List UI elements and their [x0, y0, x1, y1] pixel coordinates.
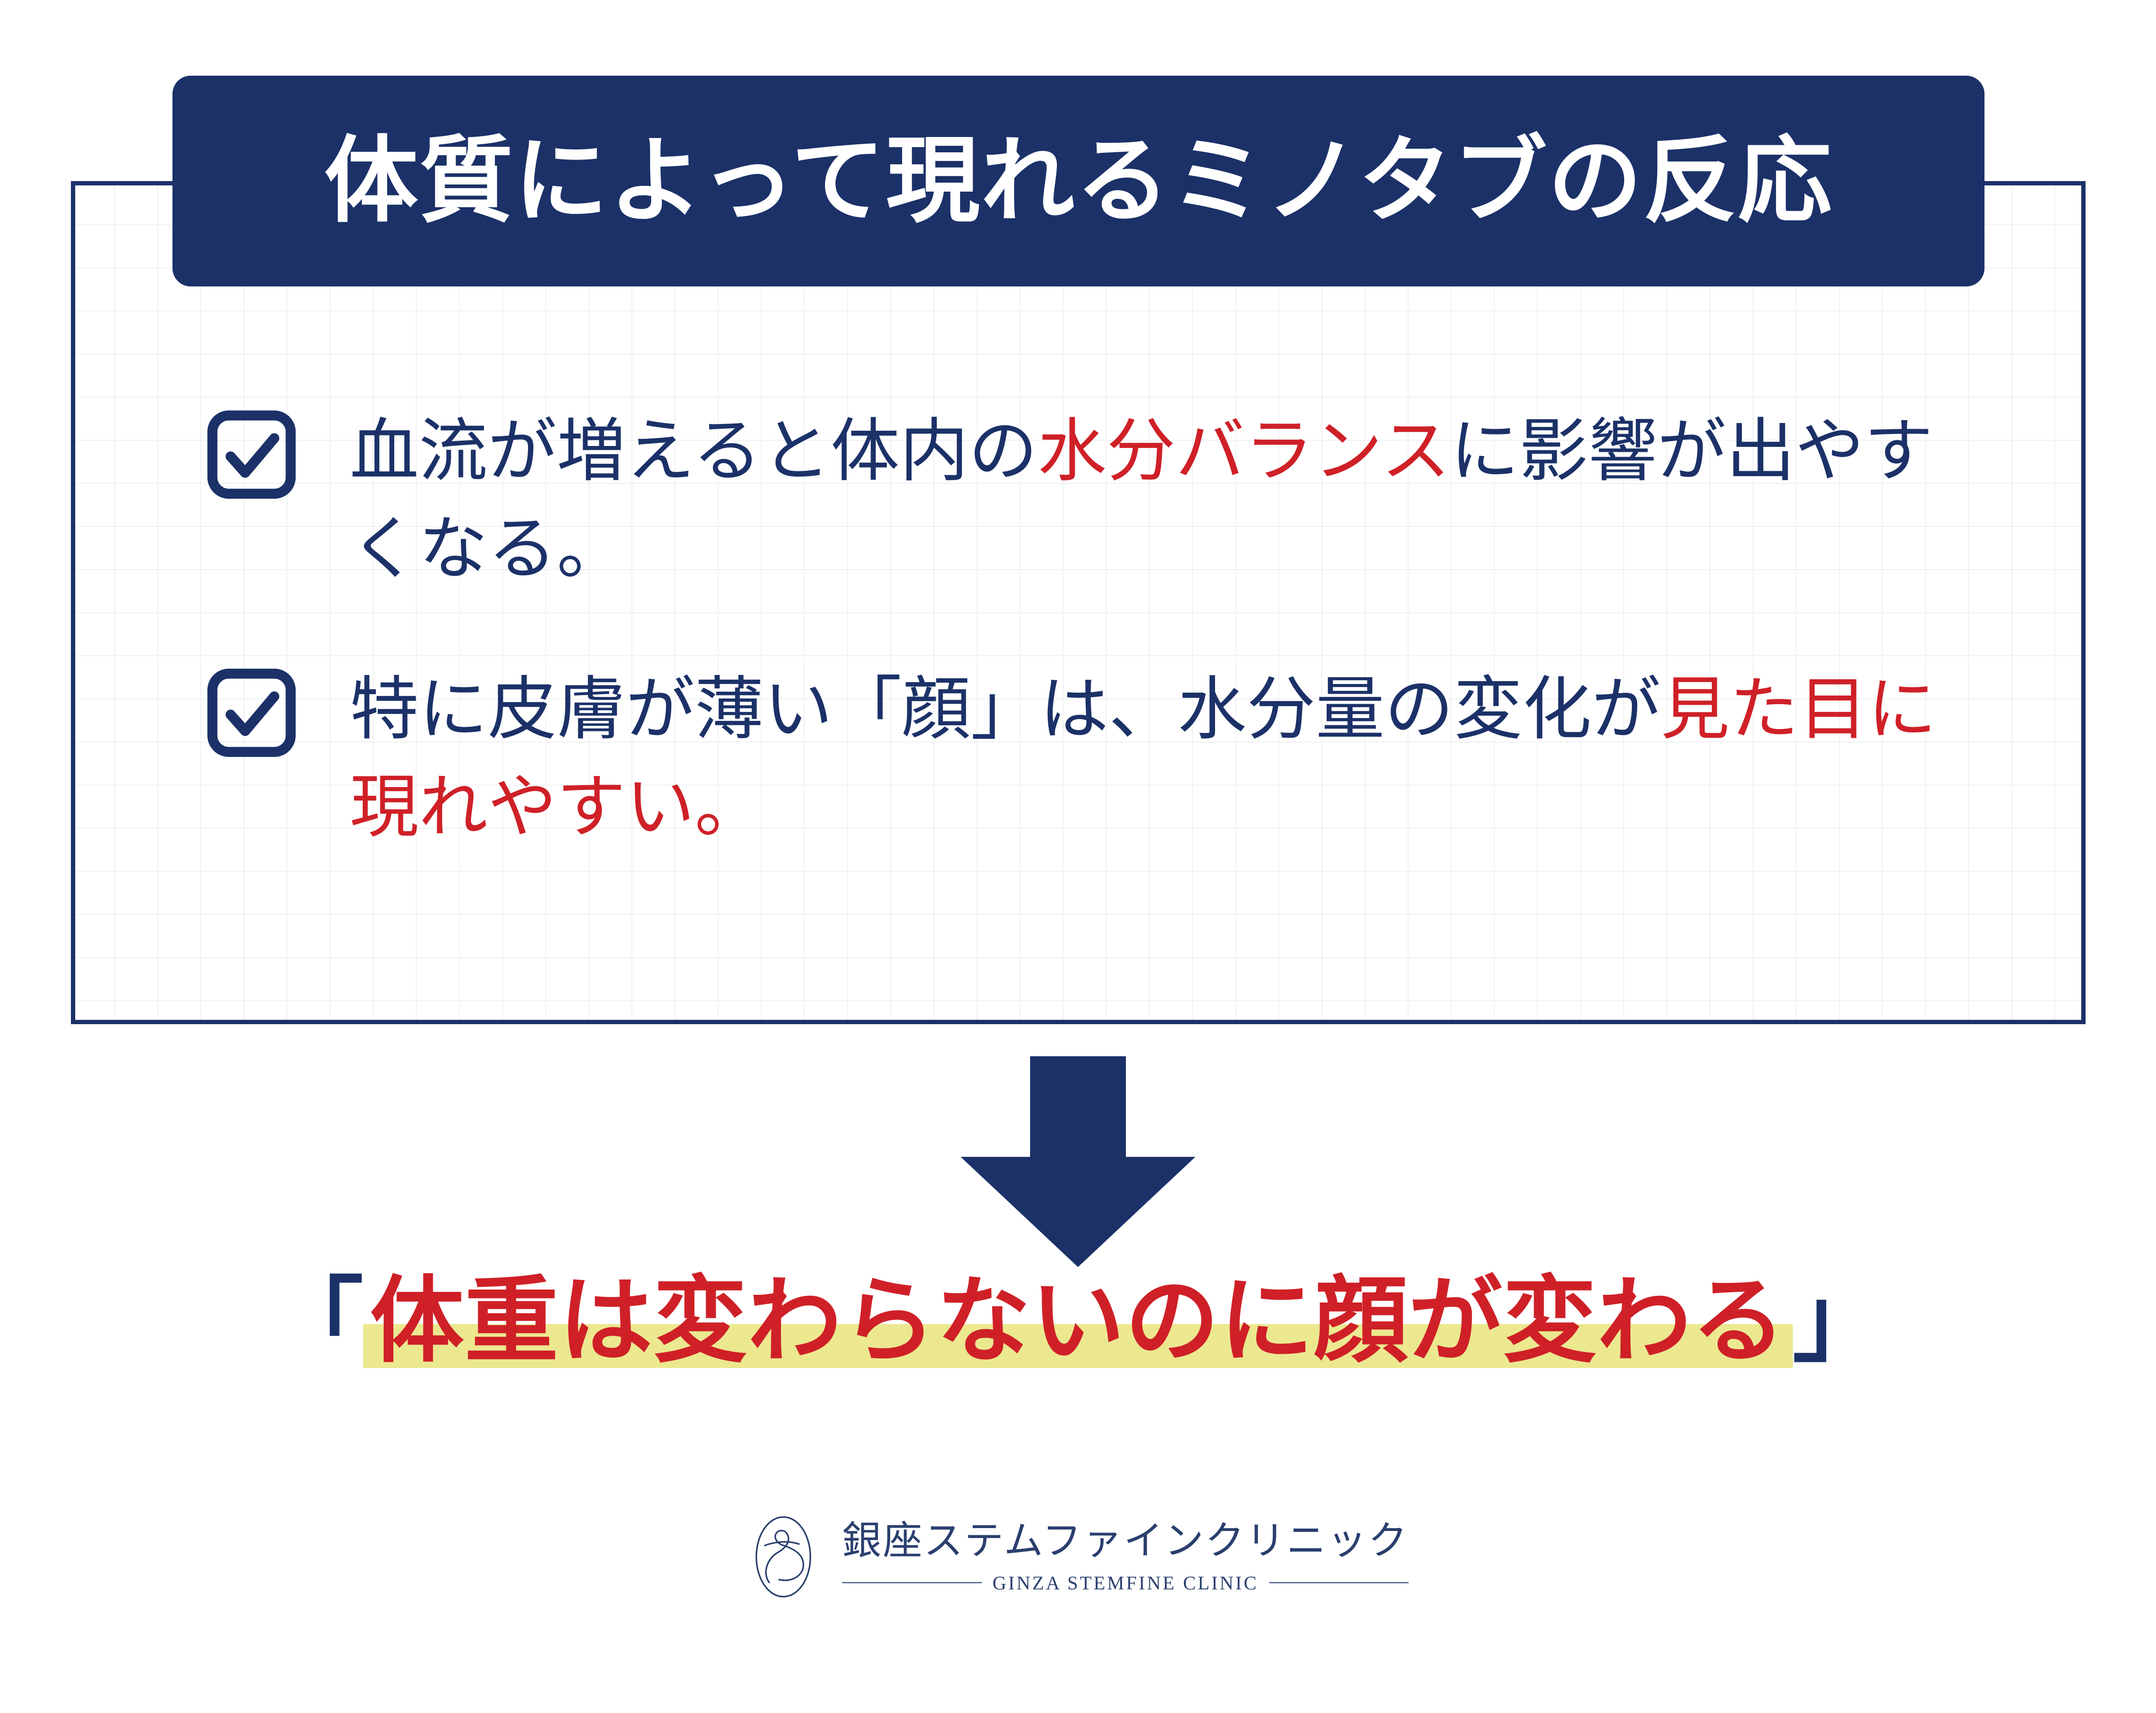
- list-item: 血流が増えると体内の水分バランスに影響が出やすくなる。: [206, 402, 1979, 598]
- clinic-name-en: GINZA STEMFINE CLINIC: [992, 1572, 1258, 1594]
- list-item: 特に皮膚が薄い「顔」は、水分量の変化が見た目に現れやすい。: [206, 661, 1979, 856]
- conclusion-line: 「体重は変わらないのに顔が変わる」: [0, 1274, 2156, 1368]
- checkbox-checked-icon: [206, 409, 297, 500]
- close-bracket: 」: [1793, 1269, 1885, 1372]
- conclusion-highlighted-text: 体重は変わらないのに顔が変わる: [363, 1274, 1792, 1368]
- open-bracket: 「: [271, 1269, 363, 1372]
- page-title: 体質によって現れるミノタブの反応: [324, 134, 1833, 228]
- list-item-text: 特に皮膚が薄い「顔」は、水分量の変化が見た目に現れやすい。: [350, 661, 1979, 856]
- checkbox-checked-icon: [206, 667, 297, 758]
- arrow-down-icon: [958, 1056, 1198, 1267]
- clinic-logo-text: 銀座ステムファインクリニック GINZA STEMFINE CLINIC: [842, 1519, 1409, 1594]
- clinic-logo: 銀座ステムファインクリニック GINZA STEMFINE CLINIC: [0, 1511, 2156, 1602]
- list-item-text: 血流が増えると体内の水分バランスに影響が出やすくなる。: [350, 402, 1979, 598]
- title-banner: 体質によって現れるミノタブの反応: [172, 76, 1984, 286]
- logo-rule-left: [842, 1582, 982, 1583]
- clinic-name-en-row: GINZA STEMFINE CLINIC: [842, 1572, 1409, 1594]
- logo-rule-right: [1269, 1582, 1409, 1583]
- bullet-list: 血流が増えると体内の水分バランスに影響が出やすくなる。 特に皮膚が薄い「顔」は、…: [206, 402, 1979, 856]
- clinic-monogram-icon: [747, 1511, 819, 1602]
- bullet-1-seg-1: 血流が増えると体内の: [350, 412, 1038, 490]
- bullet-1-seg-2-emphasis: 水分バランス: [1038, 412, 1450, 490]
- bullet-2-seg-1: 特に皮膚が薄い「顔」は、水分量の変化が: [350, 671, 1661, 748]
- clinic-name-jp: 銀座ステムファインクリニック: [842, 1519, 1409, 1563]
- slide-canvas: 体質によって現れるミノタブの反応 血流が増えると体内の水分バランスに影響が出やす…: [0, 0, 2156, 1713]
